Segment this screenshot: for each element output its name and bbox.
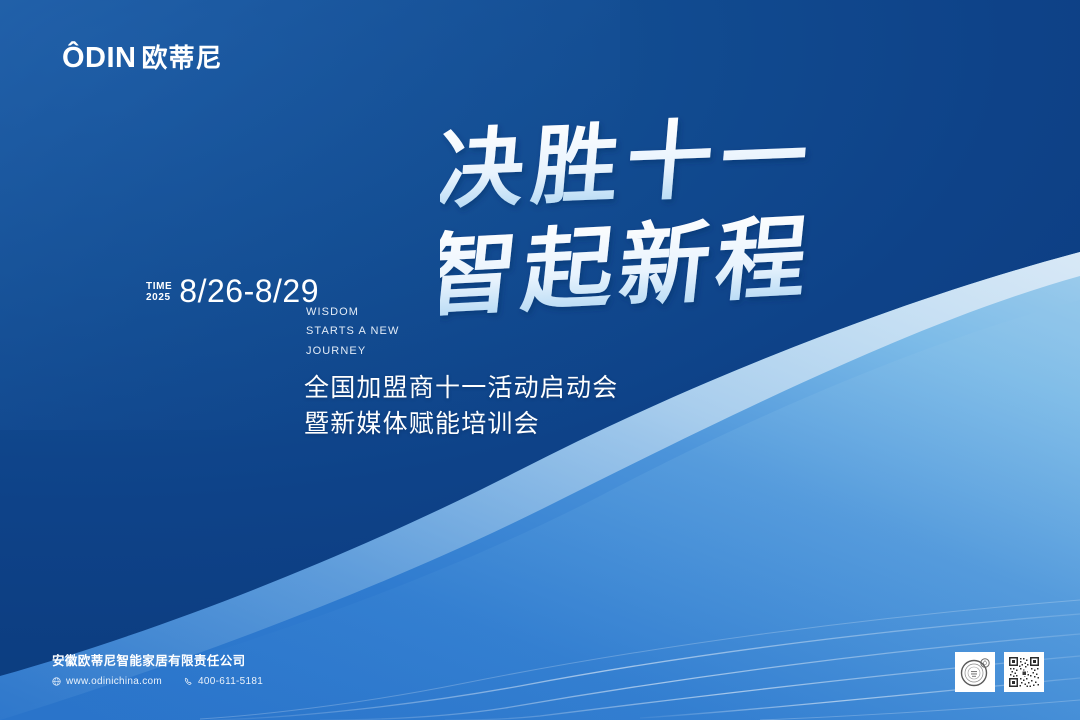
event-subtitle: 全国加盟商十一活动启动会 暨新媒体赋能培训会 [304,370,618,441]
code-badges: Ô [955,652,1044,692]
phone-contact[interactable]: 400-611-5181 [184,676,263,687]
brand-logo: ÔDIN 欧蒂尼 [62,44,223,73]
website-text: www.odinichina.com [66,676,162,687]
headline-calligraphy: 决胜十一 智起新程 [440,112,910,337]
contact-row: www.odinichina.com 400-611-5181 [52,676,263,687]
tagline-line-2: STARTS A NEW [306,322,399,341]
poster-canvas: ÔDIN 欧蒂尼 决胜十一 智起新程 TIME 2 [0,0,1080,720]
logo-chinese-name: 欧蒂尼 [142,46,223,72]
footer-info: 安徽欧蒂尼智能家居有限责任公司 www.odinichina.com [52,653,263,687]
english-tagline: WISDOM STARTS A NEW JOURNEY [306,303,399,361]
date-label-time: TIME [146,281,172,292]
svg-text:Ô: Ô [983,660,987,667]
svg-text:决胜十一: 决胜十一 [440,112,819,221]
website-contact[interactable]: www.odinichina.com [52,676,162,687]
date-range: 8/26-8/29 [179,276,319,306]
logo-wordmark: ÔDIN [62,44,137,73]
subtitle-line-1: 全国加盟商十一活动启动会 [304,370,618,406]
official-seal-badge[interactable]: Ô [955,652,995,692]
tagline-line-1: WISDOM [306,303,399,322]
event-date-block: TIME 2025 8/26-8/29 [146,276,319,306]
company-name: 安徽欧蒂尼智能家居有限责任公司 [52,653,263,668]
svg-text:智起新程: 智起新程 [440,206,818,330]
phone-text: 400-611-5181 [198,676,263,687]
date-label-year: 2025 [146,292,172,303]
globe-icon [52,677,61,686]
qr-code-badge[interactable] [1004,652,1044,692]
subtitle-line-2: 暨新媒体赋能培训会 [304,406,618,442]
date-label: TIME 2025 [146,281,172,306]
phone-icon [184,677,193,686]
tagline-line-3: JOURNEY [306,342,399,361]
background-wave-graphic [0,0,1080,720]
